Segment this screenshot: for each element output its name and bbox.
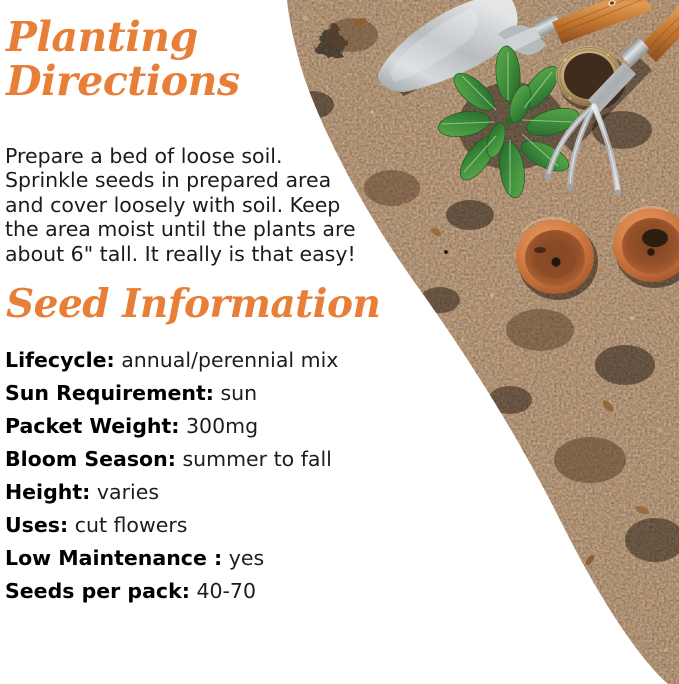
spec-value: 40-70	[196, 579, 256, 603]
spec-row-sun-requirement: Sun Requirement: sun	[5, 377, 425, 410]
spec-row-lifecycle: Lifecycle: annual/perennial mix	[5, 344, 425, 377]
planting-directions-paragraph: Prepare a bed of loose soil. Sprinkle se…	[5, 144, 357, 267]
spec-value: cut flowers	[75, 513, 188, 537]
spec-label: Bloom Season:	[5, 447, 176, 471]
spec-row-low-maintenance: Low Maintenance : yes	[5, 542, 425, 575]
spec-value: yes	[229, 546, 264, 570]
seed-packet-info-graphic: Planting Directions Prepare a bed of loo…	[0, 0, 679, 684]
spec-value: varies	[97, 480, 159, 504]
spec-value: summer to fall	[182, 447, 331, 471]
spec-label: Height:	[5, 480, 90, 504]
seed-information-list: Lifecycle: annual/perennial mix Sun Requ…	[5, 344, 425, 608]
spec-label: Lifecycle:	[5, 348, 115, 372]
text-panel: Planting Directions Prepare a bed of loo…	[0, 0, 430, 684]
spec-row-height: Height: varies	[5, 476, 425, 509]
spec-value: sun	[220, 381, 257, 405]
planting-directions-heading-line1: Planting	[6, 13, 198, 61]
spec-value: annual/perennial mix	[121, 348, 338, 372]
seed-information-heading: Seed Information	[6, 285, 380, 324]
spec-row-seeds-per-pack: Seeds per pack: 40-70	[5, 575, 425, 608]
spec-row-uses: Uses: cut flowers	[5, 509, 425, 542]
spec-label: Sun Requirement:	[5, 381, 214, 405]
spec-row-packet-weight: Packet Weight: 300mg	[5, 410, 425, 443]
planting-directions-heading: Planting Directions	[6, 17, 240, 102]
spec-value: 300mg	[186, 414, 258, 438]
spec-label: Packet Weight:	[5, 414, 179, 438]
spec-label: Low Maintenance :	[5, 546, 222, 570]
planting-directions-heading-line2: Directions	[6, 61, 240, 102]
spec-row-bloom-season: Bloom Season: summer to fall	[5, 443, 425, 476]
spec-label: Uses:	[5, 513, 68, 537]
spec-label: Seeds per pack:	[5, 579, 190, 603]
